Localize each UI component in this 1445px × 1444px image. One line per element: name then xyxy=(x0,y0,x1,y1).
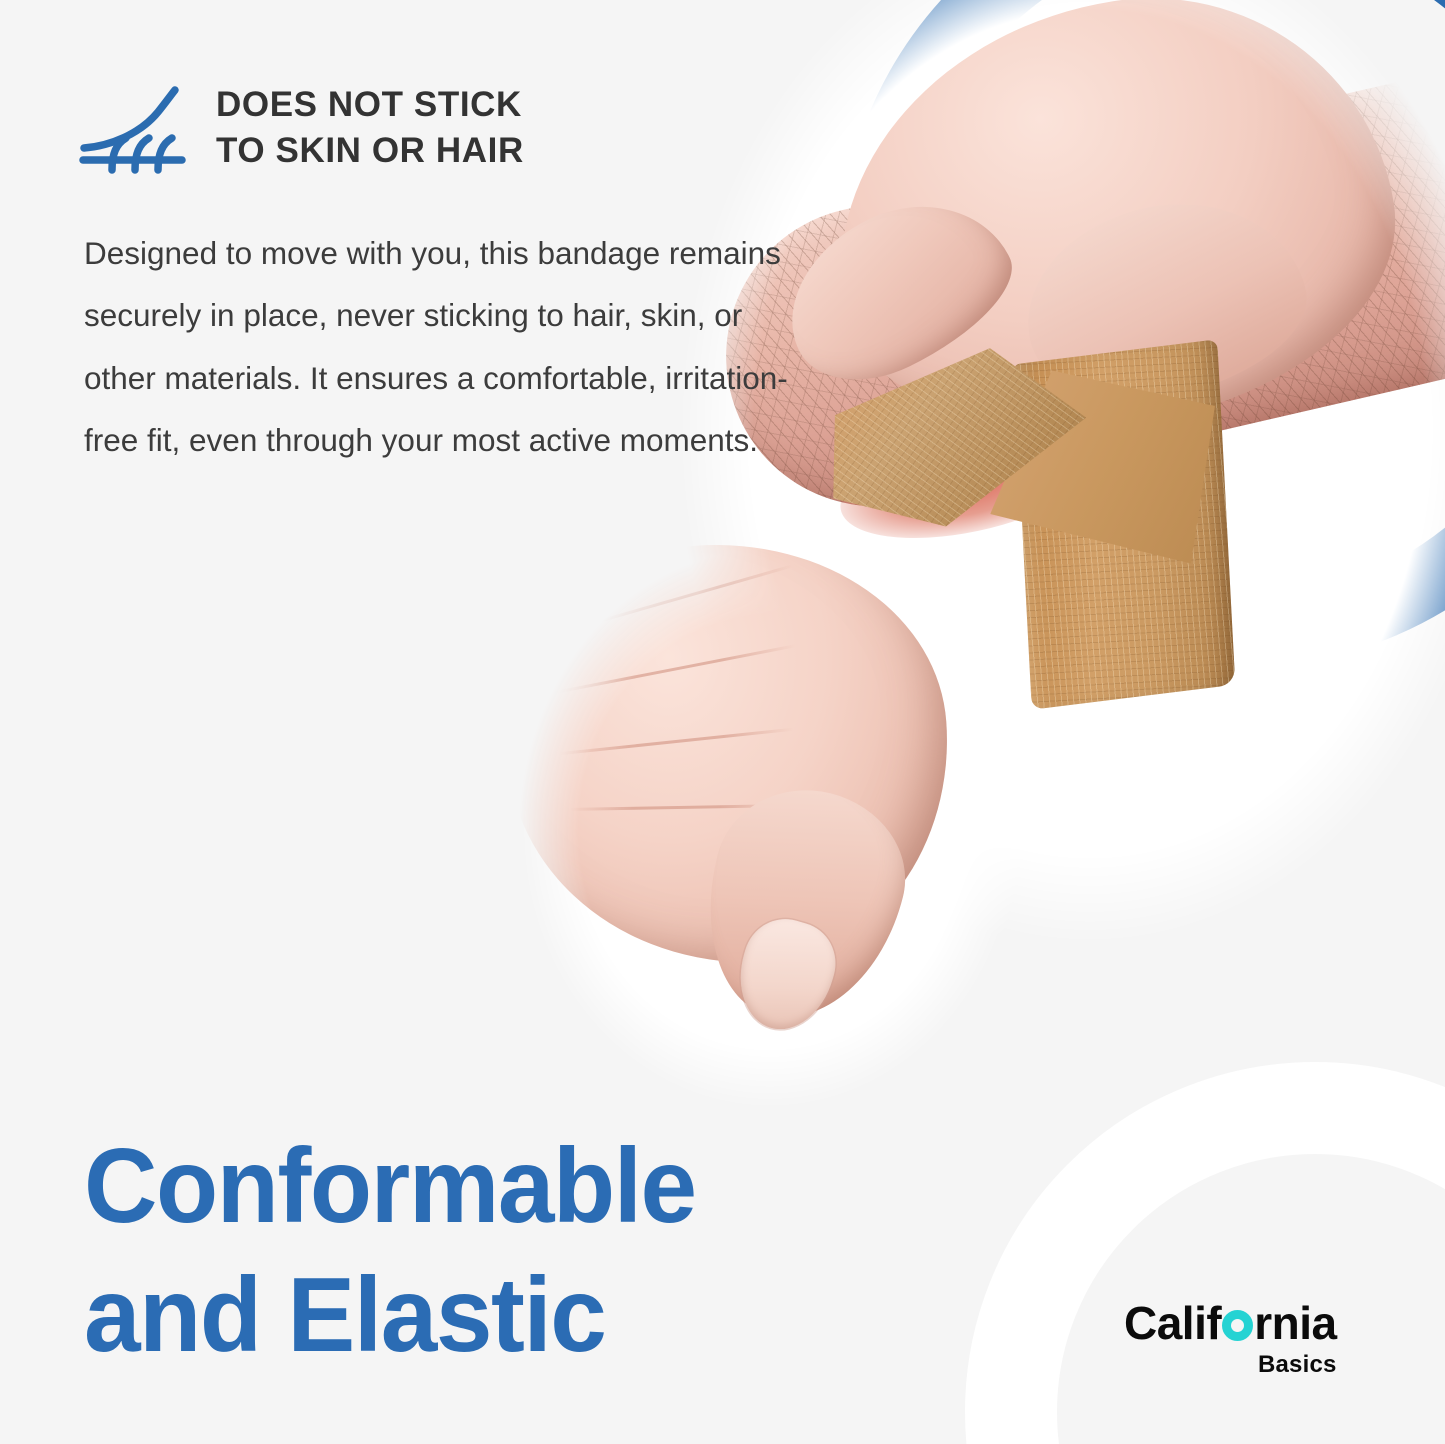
product-infographic-canvas: DOES NOT STICK TO SKIN OR HAIR Designed … xyxy=(0,0,1445,1444)
no-stick-hair-icon xyxy=(78,82,190,174)
brand-logo: Califrnia Basics xyxy=(1124,1300,1337,1377)
white-arc-decoration xyxy=(965,1062,1445,1444)
page-title: Conformable and Elastic xyxy=(84,1122,696,1381)
brand-o-ring-icon xyxy=(1222,1310,1253,1341)
feature-description: Designed to move with you, this bandage … xyxy=(84,222,814,471)
brand-name: Califrnia xyxy=(1124,1300,1337,1346)
feature-heading-row: DOES NOT STICK TO SKIN OR HAIR xyxy=(78,78,838,174)
brand-name-part-1: Calif xyxy=(1124,1297,1221,1349)
brand-subtitle: Basics xyxy=(1124,1353,1337,1377)
feature-title: DOES NOT STICK TO SKIN OR HAIR xyxy=(216,78,524,173)
feature-callout: DOES NOT STICK TO SKIN OR HAIR Designed … xyxy=(78,78,838,471)
brand-name-part-2: rnia xyxy=(1254,1297,1336,1349)
